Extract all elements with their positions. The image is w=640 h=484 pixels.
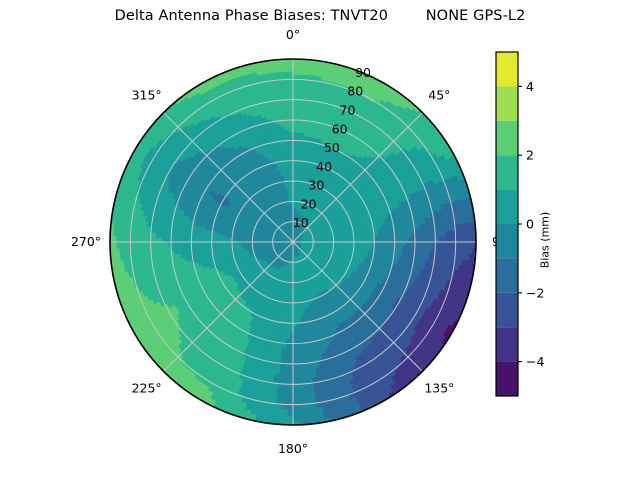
angular-tick-label-315: 315° bbox=[132, 88, 162, 103]
angular-tick-label-135: 135° bbox=[424, 380, 454, 395]
radial-tick-label-20: 20 bbox=[301, 196, 317, 211]
radial-tick-label-30: 30 bbox=[308, 178, 324, 193]
radial-tick-label-70: 70 bbox=[340, 103, 356, 118]
colorbar-label: Bias (mm) bbox=[539, 212, 552, 269]
radial-tick-label-90: 90 bbox=[355, 65, 371, 80]
radial-tick-label-10: 10 bbox=[293, 215, 309, 230]
polar-grid bbox=[110, 59, 476, 425]
angular-tick-label-45: 45° bbox=[428, 88, 450, 103]
radial-tick-label-50: 50 bbox=[324, 140, 340, 155]
angular-tick-label-225: 225° bbox=[132, 380, 162, 395]
figure-canvas: Delta Antenna Phase Biases: TNVT20 NONE … bbox=[0, 0, 640, 480]
angular-tick-label-270: 270° bbox=[71, 234, 101, 249]
radial-tick-label-40: 40 bbox=[316, 159, 332, 174]
radial-tick-label-60: 60 bbox=[332, 121, 348, 136]
angular-tick-label-90: 90 bbox=[492, 234, 508, 249]
angular-tick-label-0: 0° bbox=[286, 27, 300, 42]
angular-tick-label-180: 180° bbox=[278, 441, 308, 456]
radial-tick-label-80: 80 bbox=[347, 84, 363, 99]
